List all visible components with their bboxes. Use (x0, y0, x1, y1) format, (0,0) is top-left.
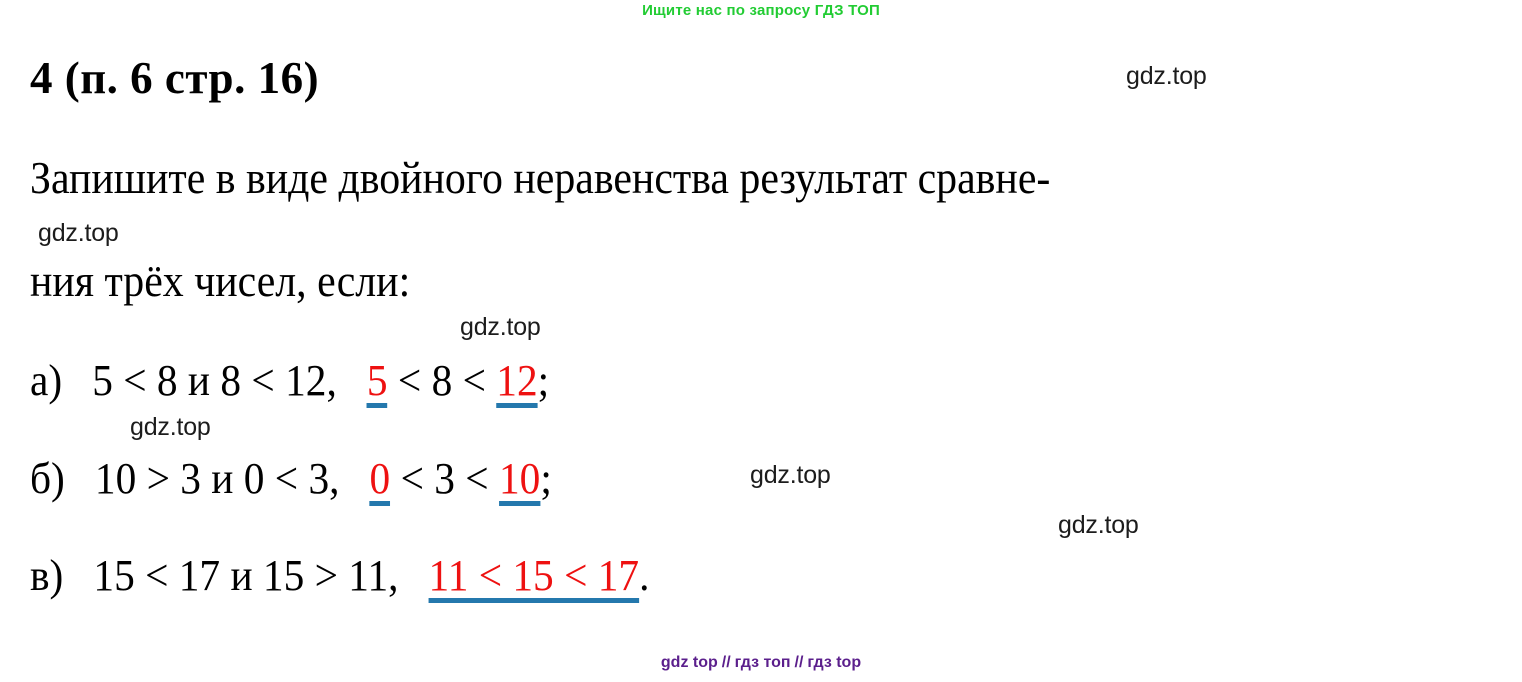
statement-line-1: Запишите в виде двойного неравенства рез… (30, 152, 1050, 204)
item-b-given: 10 > 3 и 0 < 3, (95, 454, 340, 503)
watermark-gdz-top: gdz.top (1126, 62, 1207, 91)
promo-banner: Ищите нас по запросу ГДЗ ТОП (0, 0, 1522, 22)
statement-line-2: ния трёх чисел, если: (30, 255, 410, 307)
item-b-marker: б) (30, 454, 65, 503)
item-b-operator-2: < (465, 454, 488, 503)
item-a-answer-middle: 8 (432, 356, 453, 405)
item-b-answer-last: 10 (499, 458, 540, 506)
item-a-answer-first: 5 (367, 360, 388, 408)
item-b-terminator: ; (540, 454, 552, 503)
footer-part-2: гдз топ (735, 654, 791, 671)
item-a-given: 5 < 8 и 8 < 12, (92, 356, 337, 405)
item-v-answer: 11 < 15 < 17 (429, 555, 640, 603)
watermark-gdz-top: gdz.top (460, 313, 541, 342)
item-v-given: 15 < 17 и 15 > 11, (93, 551, 398, 600)
item-b-answer-first: 0 (370, 458, 391, 506)
watermark-gdz-top: gdz.top (750, 461, 831, 490)
item-a-marker: а) (30, 356, 62, 405)
item-b-answer-middle: 3 (434, 454, 455, 503)
item-a-operator-1: < (398, 356, 421, 405)
footer-branding: gdz top//гдз топ//гдз top (0, 654, 1522, 672)
exercise-item-a: а) 5 < 8 и 8 < 12, 5 < 8 < 12; (30, 355, 549, 408)
item-v-terminator: . (639, 551, 649, 600)
footer-part-1: gdz top (661, 654, 718, 671)
exercise-item-b: б) 10 > 3 и 0 < 3, 0 < 3 < 10; (30, 453, 552, 506)
watermark-gdz-top: gdz.top (38, 219, 119, 248)
item-a-answer-last: 12 (496, 360, 537, 408)
footer-separator: // (791, 654, 808, 671)
item-v-marker: в) (30, 551, 63, 600)
footer-separator: // (718, 654, 735, 671)
item-a-operator-2: < (463, 356, 486, 405)
exercise-title: 4 (п. 6 стр. 16) (30, 53, 319, 103)
watermark-gdz-top: gdz.top (130, 413, 211, 442)
footer-part-3: гдз top (807, 654, 861, 671)
watermark-gdz-top: gdz.top (1058, 511, 1139, 540)
exercise-item-v: в) 15 < 17 и 15 > 11, 11 < 15 < 17. (30, 550, 649, 603)
item-a-terminator: ; (538, 356, 550, 405)
item-b-operator-1: < (401, 454, 424, 503)
